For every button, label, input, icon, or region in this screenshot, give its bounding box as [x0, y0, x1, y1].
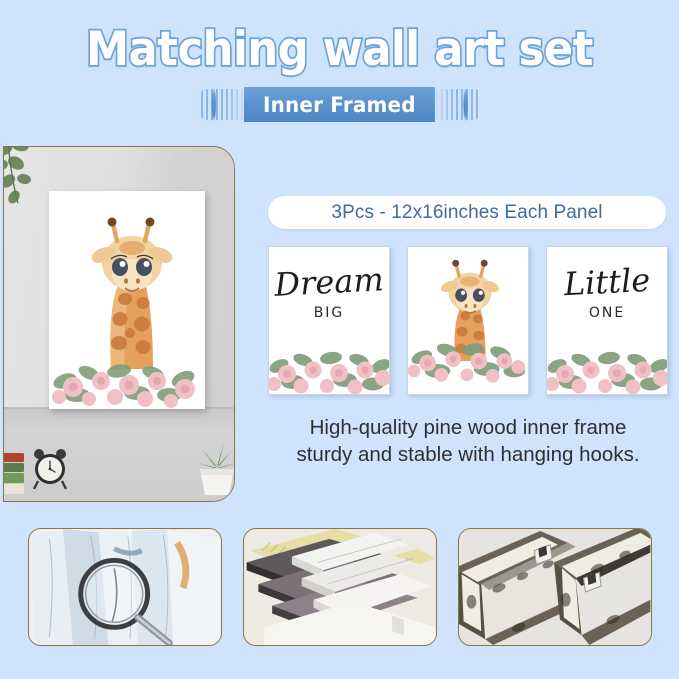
alarm-clock-icon	[32, 447, 68, 489]
giraffe-canvas	[49, 191, 205, 409]
subtitle-banner-wrap: Inner Framed	[0, 87, 679, 122]
stacked-packaged-panels-thumbnail	[243, 528, 437, 646]
rolled-canvas-magnifier-thumbnail	[28, 528, 222, 646]
dream-big-panel: Dream BIG	[268, 246, 390, 395]
frame-back-hooks-art	[459, 529, 651, 645]
stacked-panels-art	[244, 529, 436, 645]
rolled-canvas-magnifier-art	[29, 529, 221, 645]
page-title: Matching wall art set	[27, 22, 652, 77]
panel-gallery: Dream BIG	[268, 246, 668, 395]
little-one-panel: Little ONE	[546, 246, 668, 395]
detail-thumbnails	[28, 528, 652, 646]
feature-caption: High-quality pine wood inner frame sturd…	[268, 414, 668, 468]
books-stack-icon	[3, 449, 24, 495]
caption-line-1: High-quality pine wood inner frame	[268, 414, 668, 441]
brush-stroke-banner: Inner Framed	[211, 87, 469, 122]
panel-script-text: Little	[546, 260, 668, 304]
watercolor-giraffe-art	[408, 247, 528, 394]
lifestyle-photo	[3, 146, 235, 502]
spec-pill: 3Pcs - 12x16inches Each Panel	[268, 196, 666, 229]
floral-border-art	[269, 340, 390, 394]
floral-base-art	[49, 347, 205, 409]
header-section: Matching wall art set Inner Framed	[0, 0, 679, 136]
spec-pill-label: 3Pcs - 12x16inches Each Panel	[331, 202, 602, 224]
subtitle-label: Inner Framed	[263, 93, 416, 117]
succulent-pot-icon	[194, 437, 235, 495]
caption-line-2: sturdy and stable with hanging hooks.	[268, 441, 668, 468]
floral-border-art	[547, 340, 668, 394]
panel-sub-text: BIG	[269, 305, 389, 321]
panel-script-text: Dream	[268, 260, 390, 304]
panel-sub-text: ONE	[547, 305, 667, 321]
giraffe-panel	[407, 246, 529, 395]
frame-back-hooks-thumbnail	[458, 528, 652, 646]
